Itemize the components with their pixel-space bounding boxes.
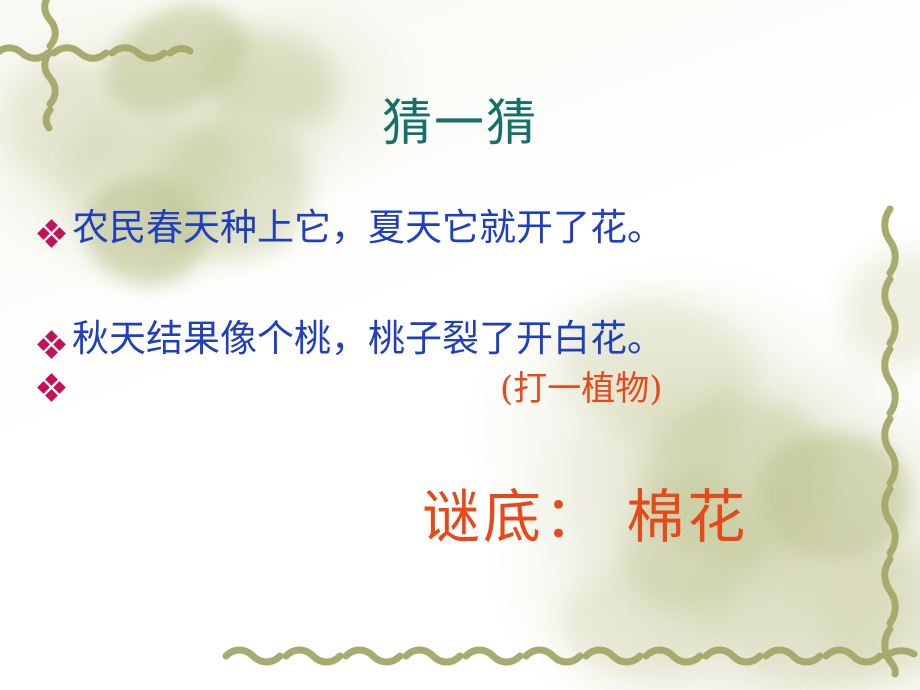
- bamboo-horizontal-icon: [0, 34, 194, 68]
- list-item: 农民春天种上它，夏天它就开了花。: [34, 205, 890, 250]
- riddle-answer: 谜底： 棉花: [422, 484, 748, 551]
- list-item: 秋天结果像个桃，桃子裂了开白花。: [34, 316, 890, 361]
- diamond-cluster-icon: [36, 219, 66, 249]
- watermark-leaf: [744, 410, 920, 580]
- slide-canvas: 猜一猜 农民春天种上它，夏天它就开了花。: [0, 0, 920, 690]
- diamond-cluster-icon: [36, 330, 66, 360]
- watermark-leaf: [556, 554, 734, 686]
- riddle-line-2: 秋天结果像个桃，桃子裂了开白花。: [72, 316, 890, 361]
- riddle-list: 农民春天种上它，夏天它就开了花。 秋天结果像个桃，桃子裂了开白花。: [34, 205, 890, 413]
- riddle-hint: (打一植物): [72, 369, 890, 410]
- bamboo-horizontal-icon: [222, 638, 920, 672]
- watermark-leaf: [794, 514, 920, 690]
- riddle-line-1: 农民春天种上它，夏天它就开了花。: [72, 205, 890, 250]
- watermark-stem: [778, 400, 814, 570]
- slide-title: 猜一猜: [0, 95, 920, 151]
- list-item: (打一植物): [34, 369, 890, 413]
- diamond-cluster-icon: [36, 373, 66, 403]
